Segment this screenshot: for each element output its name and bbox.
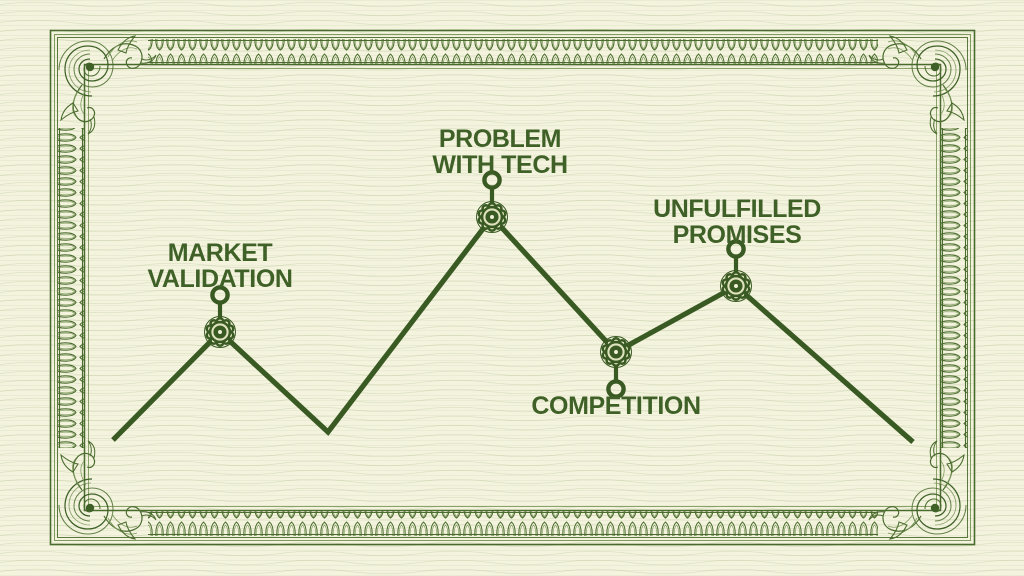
- chart-label-unfulfilled-promises: UNFULFILLED PROMISES: [653, 196, 821, 248]
- corner-ornament-top-right: [869, 36, 966, 134]
- corner-ornament-bottom-left: [59, 441, 156, 539]
- frame-braid-right: [941, 128, 967, 448]
- corner-ornament-top-left: [59, 36, 156, 134]
- corner-ornament-bottom-right: [869, 441, 966, 539]
- slide-canvas: MARKET VALIDATIONPROBLEM WITH TECHUNFULF…: [0, 0, 1024, 576]
- chart-label-competition: COMPETITION: [531, 393, 700, 419]
- chart-label-market-validation: MARKET VALIDATION: [147, 240, 292, 292]
- chart-label-problem-with-tech: PROBLEM WITH TECH: [432, 126, 567, 178]
- frame-braid-bottom: [148, 511, 878, 536]
- frame-braid-left: [58, 128, 84, 448]
- frame-braid-top: [148, 39, 878, 64]
